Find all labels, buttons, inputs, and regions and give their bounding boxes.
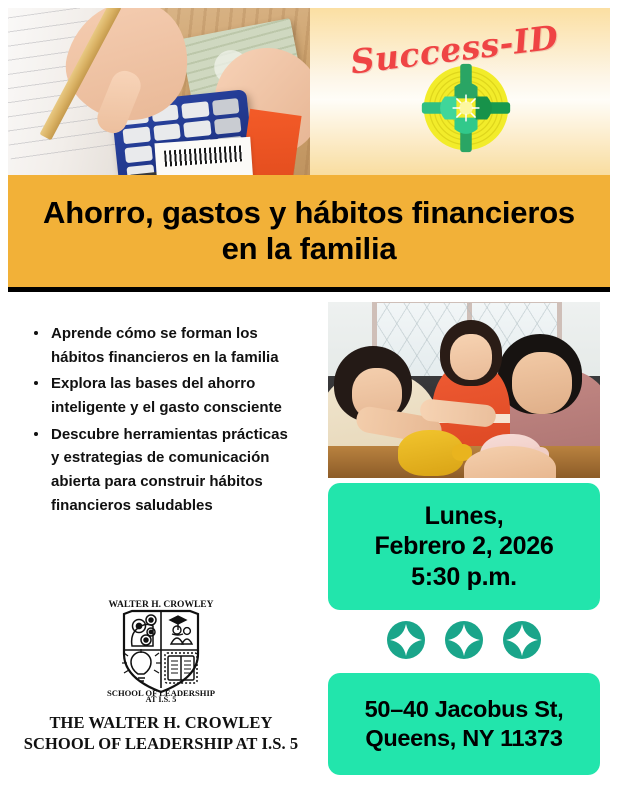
header-band: Success-ID: [8, 8, 610, 175]
page-title: Ahorro, gastos y hábitos financieros en …: [8, 195, 610, 268]
father-face: [512, 352, 572, 414]
date-line-1: Lunes,: [375, 501, 554, 532]
highlights-list: Aprende cómo se forman los hábitos finan…: [32, 322, 300, 521]
banner-divider-rule: [8, 287, 610, 292]
address-line-1: 50–40 Jacobus St,: [365, 695, 564, 724]
school-name-line-2: SCHOOL OF LEADERSHIP AT I.S. 5: [22, 733, 300, 754]
date-time-card: Lunes, Febrero 2, 2026 5:30 p.m.: [328, 483, 600, 610]
date-line-3: 5:30 p.m.: [375, 562, 554, 593]
school-crest-icon: WALTER H. CROWLEY: [94, 598, 228, 702]
sparkle-icon: [502, 620, 542, 660]
helping-hands-icon: [418, 60, 514, 156]
barcode-receipt: [154, 137, 253, 175]
flyer-page: Success-ID: [0, 0, 618, 800]
list-item: Aprende cómo se forman los hábitos finan…: [32, 322, 300, 369]
sparkle-icon: [386, 620, 426, 660]
school-name-line-1: THE WALTER H. CROWLEY: [22, 712, 300, 733]
date-time-text: Lunes, Febrero 2, 2026 5:30 p.m.: [367, 501, 562, 593]
address-line-2: Queens, NY 11373: [365, 724, 564, 753]
sparkle-divider: [328, 616, 600, 664]
address-text: 50–40 Jacobus St, Queens, NY 11373: [357, 695, 572, 752]
date-line-2: Febrero 2, 2026: [375, 531, 554, 562]
list-item: Explora las bases del ahorro inteligente…: [32, 372, 300, 419]
address-card: 50–40 Jacobus St, Queens, NY 11373: [328, 673, 600, 775]
title-banner: Ahorro, gastos y hábitos financieros en …: [8, 175, 610, 287]
girl-face: [450, 334, 492, 380]
sparkle-icon: [444, 620, 484, 660]
school-name: THE WALTER H. CROWLEY SCHOOL OF LEADERSH…: [22, 712, 300, 754]
crest-bottom-line-2: AT I.S. 5: [146, 695, 177, 702]
list-item: Descubre herramientas prácticas y estrat…: [32, 423, 300, 518]
family-piggybank-photo: [328, 302, 600, 478]
success-id-logo-panel: Success-ID: [310, 8, 610, 175]
money-calculator-photo: [8, 8, 310, 175]
gold-piggy-bank: [398, 430, 464, 476]
school-branding: WALTER H. CROWLEY: [22, 598, 300, 754]
crest-top-arc-text: WALTER H. CROWLEY: [109, 600, 214, 610]
